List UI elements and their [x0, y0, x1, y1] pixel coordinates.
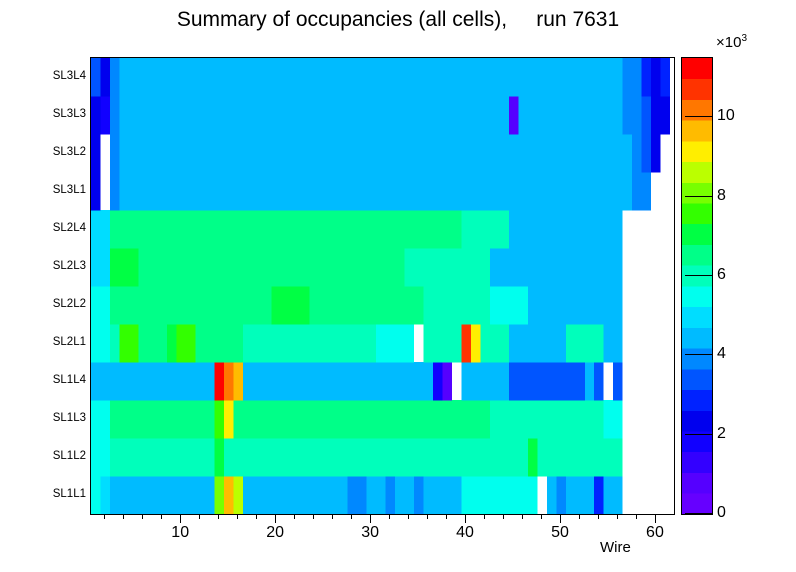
heatmap-cell [566, 96, 576, 134]
heatmap-cell [575, 400, 585, 438]
x-axis-tick-minor [541, 514, 542, 519]
heatmap-cell [233, 210, 243, 248]
heatmap-cell [262, 210, 272, 248]
heatmap-cell [471, 438, 481, 476]
x-axis-tick-minor [503, 514, 504, 519]
heatmap-cell [195, 172, 205, 210]
heatmap-cell [480, 286, 490, 324]
heatmap-cell [110, 172, 120, 210]
heatmap-cell [404, 134, 414, 172]
heatmap-cell [518, 210, 528, 248]
heatmap-cell [471, 210, 481, 248]
heatmap-cell [461, 400, 471, 438]
heatmap-cell [243, 172, 253, 210]
heatmap-cell [195, 438, 205, 476]
heatmap-cell [585, 286, 595, 324]
heatmap-cell [138, 172, 148, 210]
heatmap-cell [224, 400, 234, 438]
heatmap-cell [309, 324, 319, 362]
heatmap-cell [537, 248, 547, 286]
heatmap-cell [148, 438, 158, 476]
heatmap-cell [243, 134, 253, 172]
heatmap-cell [518, 134, 528, 172]
heatmap-cell [243, 210, 253, 248]
heatmap-cell [442, 172, 452, 210]
heatmap-cell [167, 438, 177, 476]
heatmap-cell [262, 362, 272, 400]
heatmap-cell [119, 286, 128, 324]
heatmap-cell [262, 438, 272, 476]
heatmap-cell [186, 286, 196, 324]
heatmap-cell [585, 172, 595, 210]
heatmap-cell [556, 172, 566, 210]
heatmap-cell [262, 248, 272, 286]
heatmap-cell [243, 476, 253, 514]
heatmap-cell [414, 248, 424, 286]
heatmap-cell [252, 400, 261, 438]
heatmap-cell [262, 324, 272, 362]
heatmap-cell [328, 324, 338, 362]
heatmap-cell [537, 400, 547, 438]
heatmap-cell [376, 324, 386, 362]
heatmap-cell [357, 324, 367, 362]
heatmap-cell [300, 476, 310, 514]
x-axis-tick-minor [199, 514, 200, 519]
heatmap-cell [328, 400, 338, 438]
heatmap-cell [490, 324, 500, 362]
heatmap-cell [613, 172, 623, 210]
heatmap-cell [148, 248, 158, 286]
heatmap-cell [110, 400, 120, 438]
heatmap-cell [319, 400, 329, 438]
heatmap-cell [176, 400, 186, 438]
heatmap-cell [309, 362, 319, 400]
heatmap-cell [224, 286, 234, 324]
x-axis-tick-label: 30 [361, 524, 379, 542]
heatmap-cells[interactable] [91, 58, 674, 514]
heatmap-cell [414, 58, 424, 96]
heatmap-cell [528, 286, 538, 324]
heatmap-cell [461, 362, 471, 400]
heatmap-cell [604, 172, 614, 210]
heatmap-cell [442, 134, 452, 172]
heatmap-cell [404, 286, 414, 324]
heatmap-cell [518, 324, 528, 362]
x-axis-tick-minor [617, 514, 618, 519]
heatmap-cell [442, 210, 452, 248]
heatmap-cell [176, 438, 186, 476]
heatmap-cell [642, 96, 652, 134]
heatmap-cell [518, 400, 528, 438]
heatmap-cell [376, 210, 386, 248]
heatmap-cell [547, 210, 557, 248]
x-axis-tick-minor [427, 514, 428, 519]
heatmap-cell [309, 476, 319, 514]
heatmap-cell [433, 134, 443, 172]
heatmap-cell [537, 96, 547, 134]
heatmap-cell [414, 438, 424, 476]
heatmap-cell [129, 286, 139, 324]
heatmap-cell [423, 58, 433, 96]
heatmap-cell [604, 248, 614, 286]
heatmap-cell [385, 362, 395, 400]
heatmap-cell [385, 134, 395, 172]
heatmap-cell [461, 134, 471, 172]
heatmap-cell [509, 210, 519, 248]
heatmap-cell [366, 362, 376, 400]
heatmap-cell [594, 362, 604, 400]
heatmap-cell [490, 210, 500, 248]
heatmap-cell [262, 286, 272, 324]
heatmap-cell [594, 172, 604, 210]
heatmap-cell [205, 400, 215, 438]
heatmap-cell [300, 248, 310, 286]
heatmap-cell [404, 58, 414, 96]
heatmap-cell [594, 438, 604, 476]
heatmap-cell [271, 400, 281, 438]
heatmap-cell [566, 58, 576, 96]
heatmap-cell [471, 362, 481, 400]
heatmap-cell [490, 400, 500, 438]
heatmap-cell [623, 96, 633, 134]
heatmap-cell [157, 400, 167, 438]
heatmap-cell [319, 96, 329, 134]
heatmap-cell [604, 286, 614, 324]
heatmap-cell [233, 476, 243, 514]
heatmap-cell [309, 286, 319, 324]
heatmap-cell [509, 286, 519, 324]
heatmap-cell [101, 286, 111, 324]
heatmap-cell [252, 134, 261, 172]
heatmap-cell [376, 362, 386, 400]
heatmap-cell [632, 58, 642, 96]
heatmap-cell [233, 96, 243, 134]
heatmap-cell [404, 362, 414, 400]
heatmap-cell [148, 362, 158, 400]
heatmap-cell [480, 96, 490, 134]
heatmap-cell [423, 172, 433, 210]
heatmap-cell [129, 438, 139, 476]
heatmap-cell [233, 438, 243, 476]
x-axis-ticks: 102030405060 [90, 514, 675, 544]
heatmap-cell [309, 248, 319, 286]
heatmap-cell [148, 172, 158, 210]
heatmap-cell [452, 58, 462, 96]
x-axis-title: Wire [600, 539, 631, 556]
x-axis-tick-label: 40 [456, 524, 474, 542]
heatmap-cell [233, 400, 243, 438]
heatmap-cell [138, 96, 148, 134]
y-axis-label-sl2l4: SL2L4 [10, 222, 86, 234]
heatmap-cell [252, 286, 261, 324]
heatmap-cell [338, 248, 348, 286]
heatmap-cell [129, 476, 139, 514]
heatmap-cell [461, 438, 471, 476]
heatmap-cell [547, 438, 557, 476]
heatmap-cell [138, 362, 148, 400]
heatmap-cell [157, 134, 167, 172]
heatmap-cell [328, 172, 338, 210]
heatmap-cell [480, 400, 490, 438]
heatmap-cell [499, 210, 509, 248]
heatmap-cell [537, 172, 547, 210]
heatmap-cell [537, 438, 547, 476]
heatmap-cell [594, 324, 604, 362]
heatmap-cell [281, 324, 291, 362]
heatmap-cell [233, 324, 243, 362]
heatmap-plot-area[interactable] [90, 57, 675, 515]
color-scale-tick-label: 0 [717, 504, 726, 522]
heatmap-cell [613, 362, 623, 400]
heatmap-cell [404, 400, 414, 438]
heatmap-cell [632, 96, 642, 134]
heatmap-cell [119, 172, 128, 210]
heatmap-cell [176, 134, 186, 172]
y-axis-label-sl2l2: SL2L2 [10, 298, 86, 310]
heatmap-cell [442, 438, 452, 476]
heatmap-cell [357, 248, 367, 286]
heatmap-cell [385, 96, 395, 134]
heatmap-cell [300, 324, 310, 362]
heatmap-cell [556, 96, 566, 134]
heatmap-cell [556, 58, 566, 96]
heatmap-cell [338, 476, 348, 514]
y-axis-label-sl3l2: SL3L2 [10, 146, 86, 158]
heatmap-cell [433, 400, 443, 438]
x-axis-tick-minor [218, 514, 219, 519]
heatmap-cell [585, 476, 595, 514]
heatmap-cell [509, 362, 519, 400]
heatmap-cell [233, 172, 243, 210]
heatmap-cell [252, 58, 261, 96]
heatmap-cell [366, 172, 376, 210]
y-axis-labels: SL1L1SL1L2SL1L3SL1L4SL2L1SL2L2SL2L3SL2L4… [0, 57, 86, 513]
heatmap-cell [281, 400, 291, 438]
color-scale-ticks: 0246810 [681, 57, 791, 513]
heatmap-cell [594, 134, 604, 172]
heatmap-cell [319, 134, 329, 172]
heatmap-cell [205, 96, 215, 134]
heatmap-cell [176, 476, 186, 514]
heatmap-cell [395, 438, 405, 476]
heatmap-cell [129, 96, 139, 134]
heatmap-cell [528, 362, 538, 400]
heatmap-cell [490, 248, 500, 286]
heatmap-cell [442, 248, 452, 286]
heatmap-cell [423, 438, 433, 476]
x-axis-tick-minor [408, 514, 409, 519]
heatmap-cell [309, 438, 319, 476]
heatmap-cell [385, 286, 395, 324]
heatmap-cell [604, 96, 614, 134]
color-scale-tick [685, 196, 712, 197]
heatmap-cell [414, 362, 424, 400]
heatmap-cell [366, 438, 376, 476]
heatmap-cell [319, 58, 329, 96]
heatmap-cell [233, 286, 243, 324]
heatmap-cell [395, 362, 405, 400]
color-scale-tick-label: 6 [717, 266, 726, 284]
heatmap-cell [110, 210, 120, 248]
heatmap-cell [547, 96, 557, 134]
heatmap-cell [290, 248, 300, 286]
heatmap-cell [271, 248, 281, 286]
heatmap-cell [471, 324, 481, 362]
heatmap-cell [651, 134, 661, 172]
heatmap-cell [480, 438, 490, 476]
heatmap-cell [585, 324, 595, 362]
heatmap-cell [433, 286, 443, 324]
heatmap-cell [319, 362, 329, 400]
heatmap-cell [300, 400, 310, 438]
heatmap-cell [214, 172, 224, 210]
heatmap-cell [338, 286, 348, 324]
heatmap-cell [452, 438, 462, 476]
heatmap-cell [281, 248, 291, 286]
heatmap-cell [214, 438, 224, 476]
y-axis-label-sl1l2: SL1L2 [10, 450, 86, 462]
heatmap-cell [556, 438, 566, 476]
color-scale-tick [685, 513, 712, 514]
heatmap-cell [233, 362, 243, 400]
y-axis-label-sl2l3: SL2L3 [10, 260, 86, 272]
x-axis-tick-major [275, 514, 276, 523]
heatmap-cell [442, 362, 452, 400]
heatmap-cell [129, 58, 139, 96]
heatmap-cell [300, 58, 310, 96]
heatmap-cell [157, 172, 167, 210]
heatmap-cell [385, 172, 395, 210]
heatmap-cell [395, 324, 405, 362]
heatmap-cell [91, 476, 101, 514]
heatmap-cell [433, 172, 443, 210]
heatmap-cell [205, 286, 215, 324]
heatmap-cell [262, 134, 272, 172]
heatmap-cell [138, 248, 148, 286]
heatmap-cell [480, 172, 490, 210]
heatmap-cell [499, 324, 509, 362]
heatmap-cell [613, 286, 623, 324]
heatmap-cell [423, 96, 433, 134]
heatmap-cell [138, 476, 148, 514]
heatmap-cell [233, 58, 243, 96]
heatmap-cell [119, 362, 128, 400]
heatmap-cell [262, 172, 272, 210]
heatmap-cell [366, 210, 376, 248]
heatmap-cell [138, 58, 148, 96]
heatmap-cell [518, 248, 528, 286]
heatmap-cell [357, 210, 367, 248]
heatmap-cell [290, 476, 300, 514]
heatmap-cell [556, 476, 566, 514]
heatmap-cell [148, 400, 158, 438]
heatmap-cell [575, 58, 585, 96]
heatmap-cell [385, 400, 395, 438]
heatmap-cell [110, 248, 120, 286]
heatmap-cell [404, 172, 414, 210]
heatmap-cell [138, 134, 148, 172]
heatmap-cell [129, 324, 139, 362]
heatmap-cell [623, 58, 633, 96]
heatmap-cell [452, 210, 462, 248]
heatmap-cell [566, 438, 576, 476]
heatmap-cell [414, 476, 424, 514]
heatmap-cell [347, 362, 357, 400]
x-axis-tick-major [370, 514, 371, 523]
heatmap-cell [271, 210, 281, 248]
heatmap-cell [195, 58, 205, 96]
heatmap-cell [404, 476, 414, 514]
heatmap-cell [452, 324, 462, 362]
heatmap-cell [395, 96, 405, 134]
heatmap-cell [471, 476, 481, 514]
heatmap-cell [556, 134, 566, 172]
heatmap-cell [623, 134, 633, 172]
heatmap-cell [233, 248, 243, 286]
heatmap-cell [442, 324, 452, 362]
heatmap-cell [205, 134, 215, 172]
color-scale-tick [685, 116, 712, 117]
heatmap-cell [433, 324, 443, 362]
x-axis-tick-label: 60 [646, 524, 664, 542]
heatmap-cell [91, 400, 101, 438]
heatmap-cell [376, 438, 386, 476]
heatmap-cell [129, 400, 139, 438]
heatmap-cell [509, 400, 519, 438]
heatmap-cell [575, 362, 585, 400]
heatmap-cell [119, 134, 128, 172]
heatmap-cell [281, 58, 291, 96]
heatmap-cell [157, 248, 167, 286]
heatmap-cell [661, 58, 671, 96]
heatmap-cell [347, 476, 357, 514]
root-canvas: Summary of occupancies (all cells), run … [0, 0, 796, 572]
heatmap-cell [357, 58, 367, 96]
heatmap-cell [205, 248, 215, 286]
heatmap-cell [101, 362, 111, 400]
heatmap-cell [461, 248, 471, 286]
heatmap-cell [347, 134, 357, 172]
heatmap-cell [423, 210, 433, 248]
heatmap-cell [224, 362, 234, 400]
heatmap-cell [452, 96, 462, 134]
heatmap-cell [395, 172, 405, 210]
heatmap-cell [357, 438, 367, 476]
heatmap-cell [471, 96, 481, 134]
heatmap-cell [480, 324, 490, 362]
heatmap-cell [252, 172, 261, 210]
heatmap-cell [385, 248, 395, 286]
heatmap-cell [547, 286, 557, 324]
heatmap-cell [480, 362, 490, 400]
heatmap-cell [91, 438, 101, 476]
heatmap-cell [376, 248, 386, 286]
heatmap-cell [243, 96, 253, 134]
heatmap-cell [613, 134, 623, 172]
x-axis-tick-minor [446, 514, 447, 519]
heatmap-cell [157, 324, 167, 362]
heatmap-cell [442, 476, 452, 514]
heatmap-cell [585, 400, 595, 438]
heatmap-cell [262, 58, 272, 96]
heatmap-cell [499, 362, 509, 400]
heatmap-cell [509, 438, 519, 476]
heatmap-cell [167, 400, 177, 438]
heatmap-cell [395, 210, 405, 248]
heatmap-cell [300, 210, 310, 248]
heatmap-cell [309, 210, 319, 248]
heatmap-cell [499, 438, 509, 476]
